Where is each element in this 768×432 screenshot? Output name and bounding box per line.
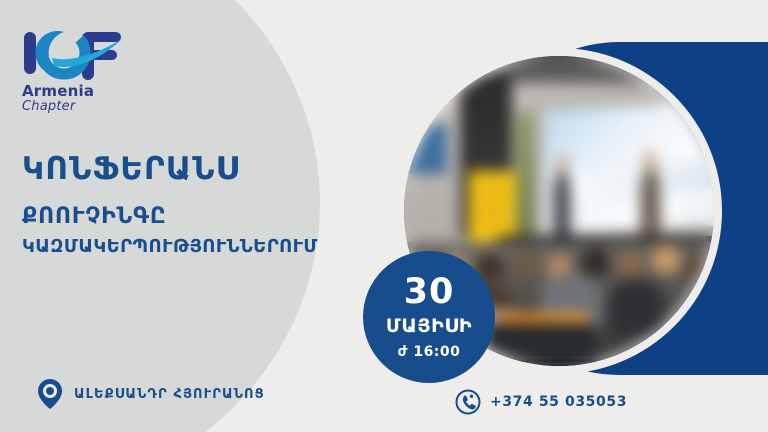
phone-icon	[455, 389, 481, 415]
headline-block: ԿՈՆՖԵՐԱՆՍ ՔՈՈՒՉԻՆԳԸ ԿԱԶՄԱԿԵՐՊՈՒԹՅՈՒՆՆԵՐՈ…	[22, 152, 422, 257]
date-day: 30	[404, 275, 455, 310]
icf-logo-icon	[22, 28, 134, 80]
phone-block[interactable]: +374 55 035053	[455, 389, 627, 415]
venue-name: ԱԼԵՔՍԱՆԴՐ ՀՅՈՒՐԱՆՈՑ	[74, 387, 265, 402]
venue-block: ԱԼԵՔՍԱՆԴՐ ՀՅՈՒՐԱՆՈՑ	[38, 378, 265, 410]
date-month: ՄԱՅԻՍԻ	[386, 315, 472, 337]
location-pin-icon	[38, 378, 62, 410]
phone-number: +374 55 035053	[490, 394, 627, 410]
icf-logo[interactable]: Armenia Chapter	[22, 28, 152, 113]
event-subtitle-1: ՔՈՈՒՉԻՆԳԸ	[22, 204, 422, 229]
event-subtitle-2: ԿԱԶՄԱԿԵՐՊՈՒԹՅՈՒՆՆԵՐՈՒՄ	[22, 236, 422, 257]
logo-chapter: Chapter	[22, 100, 152, 114]
icf-logo-mark	[22, 28, 134, 80]
event-poster: Armenia Chapter ԿՈՆՖԵՐԱՆՍ ՔՈՈՒՉԻՆԳԸ ԿԱԶՄ…	[0, 0, 768, 432]
logo-organization: Armenia	[22, 84, 152, 100]
event-title: ԿՈՆՖԵՐԱՆՍ	[22, 152, 422, 186]
icf-logo-text: Armenia Chapter	[22, 84, 152, 113]
date-badge: 30 ՄԱՅԻՍԻ ժ 16:00	[363, 251, 495, 383]
date-time: ժ 16:00	[398, 344, 461, 360]
